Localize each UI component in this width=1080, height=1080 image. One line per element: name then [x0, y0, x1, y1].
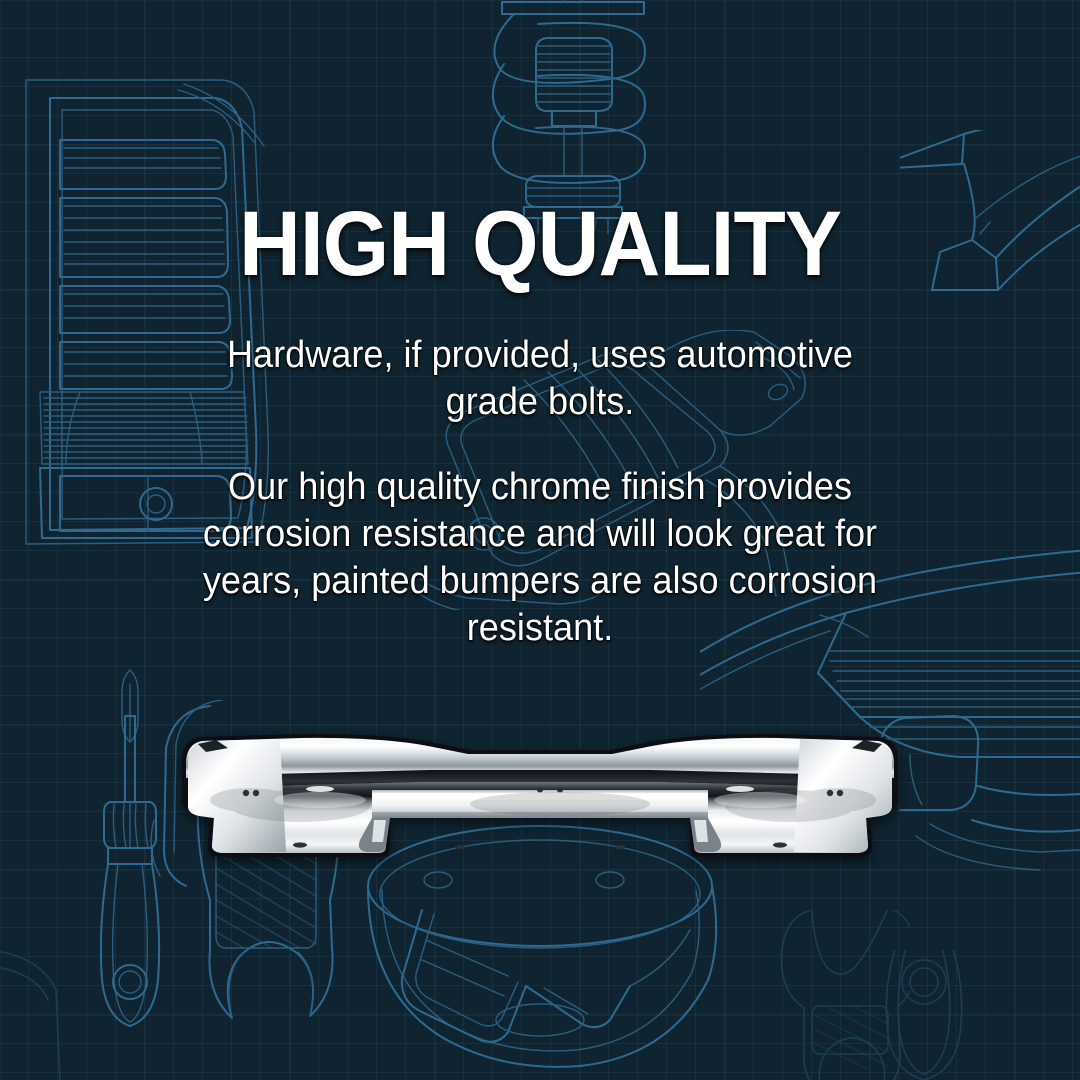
promo-banner: HIGH QUALITY Hardware, if provided, uses…	[0, 0, 1080, 1080]
copy-block: HIGH QUALITY Hardware, if provided, uses…	[0, 0, 1080, 652]
page-title: HIGH QUALITY	[38, 0, 1042, 292]
body-paragraph-1: Hardware, if provided, uses automotive g…	[189, 292, 892, 426]
bumper-bracket-right-blueprint	[860, 690, 1080, 910]
body-paragraph-2: Our high quality chrome finish provides …	[179, 426, 901, 652]
brake-rotor-caliper-blueprint	[330, 790, 750, 1080]
bracket-edge-blueprint	[0, 930, 160, 1080]
screwdriver-faint-blueprint	[880, 950, 970, 1080]
open-end-wrench-blueprint	[160, 740, 340, 1080]
